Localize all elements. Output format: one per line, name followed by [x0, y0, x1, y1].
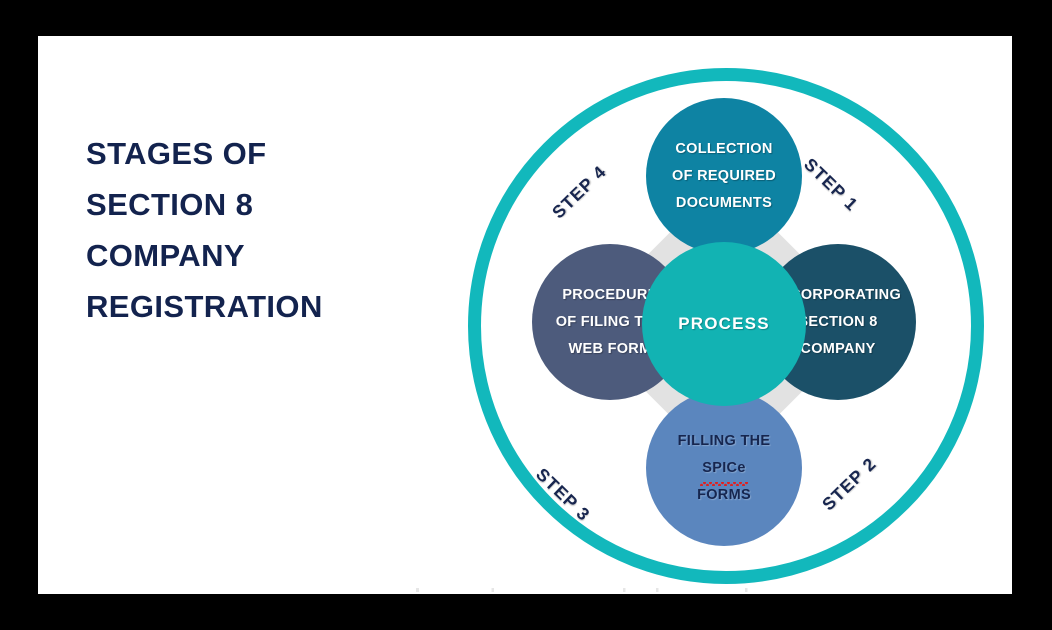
page-title: STAGES OF SECTION 8 COMPANY REGISTRATION [86, 128, 416, 332]
petal-filling-the-spice-forms[interactable]: FILLING THE SPICe FORMS [646, 390, 802, 546]
petal-right-line-2: SECTION 8 [798, 309, 877, 336]
page-title-line-3: COMPANY [86, 230, 416, 281]
bottom-edge-artifacts [388, 588, 858, 592]
petal-top-line-2: OF REQUIRED [672, 163, 776, 190]
petal-collection-of-required-documents[interactable]: COLLECTION OF REQUIRED DOCUMENTS [646, 98, 802, 254]
page-title-line-2: SECTION 8 [86, 179, 416, 230]
petal-left-line-3: WEB FORM [569, 336, 652, 363]
slide-outer-frame: STAGES OF SECTION 8 COMPANY REGISTRATION… [0, 0, 1052, 630]
petal-right-line-3: COMPANY [800, 336, 875, 363]
petal-top-line-3: DOCUMENTS [676, 190, 772, 217]
center-hub-process[interactable]: PROCESS [642, 242, 806, 406]
page-title-line-4: REGISTRATION [86, 281, 416, 332]
center-hub-label: PROCESS [678, 314, 770, 334]
petal-bottom-line-2-misspelled: SPICe [702, 455, 745, 482]
petal-bottom-line-3: FORMS [697, 482, 751, 509]
page-title-line-1: STAGES OF [86, 128, 416, 179]
slide-canvas: STAGES OF SECTION 8 COMPANY REGISTRATION… [38, 36, 1012, 594]
petal-top-line-1: COLLECTION [675, 136, 772, 163]
petal-bottom-line-1: FILLING THE [678, 428, 771, 455]
process-cycle-diagram: COLLECTION OF REQUIRED DOCUMENTS INCORPO… [462, 62, 986, 586]
